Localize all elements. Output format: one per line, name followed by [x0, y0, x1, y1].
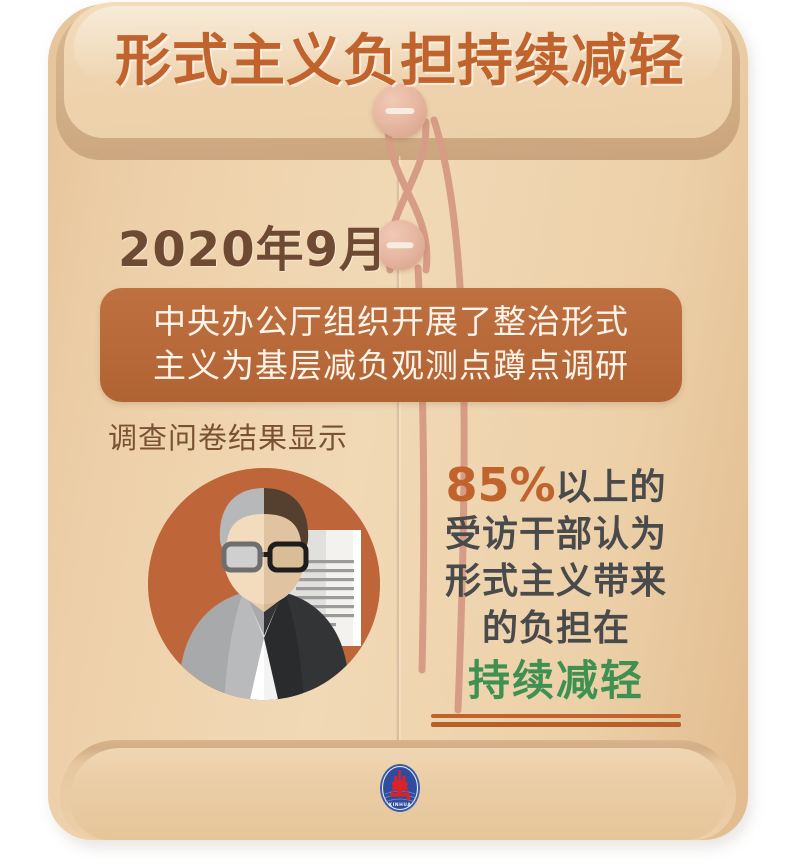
statistics-block: 85%以上的 受访干部认为 形式主义带来 的负担在 持续减轻 [408, 462, 704, 727]
stat-percent-suffix: 以上的 [556, 467, 667, 508]
xinhua-logo: XINHUA [378, 762, 422, 814]
stat-highlight-text: 持续减轻 [408, 652, 704, 710]
official-person-icon [148, 468, 380, 700]
stat-line-1: 85%以上的 [408, 462, 704, 511]
statement-line-1: 中央办公厅组织开展了整治形式 [122, 300, 660, 344]
portrait-illustration [148, 468, 380, 700]
statement-box: 中央办公厅组织开展了整治形式 主义为基层减负观测点蹲点调研 [100, 288, 682, 402]
underline-stroke-2 [431, 722, 681, 727]
date-label: 2020年9月 [118, 210, 388, 280]
xinhua-logo-icon: XINHUA [378, 762, 422, 814]
survey-caption: 调查问卷结果显示 [108, 415, 348, 457]
xinhua-logo-text: XINHUA [389, 802, 412, 808]
underline-stroke-1 [431, 714, 681, 718]
infographic-poster: 形式主义负担持续减轻 2020年9月 中央办公厅组织开展了整治形式 主义为基层减… [0, 0, 800, 860]
stat-line-4: 的负担在 [408, 605, 704, 652]
page-title: 形式主义负担持续减轻 [0, 16, 800, 97]
stat-line-3: 形式主义带来 [408, 558, 704, 605]
highlight-underline [431, 714, 681, 727]
stat-percent-value: 85% [445, 458, 555, 512]
statement-line-2: 主义为基层减负观测点蹲点调研 [122, 344, 660, 388]
stat-line-2: 受访干部认为 [408, 511, 704, 558]
